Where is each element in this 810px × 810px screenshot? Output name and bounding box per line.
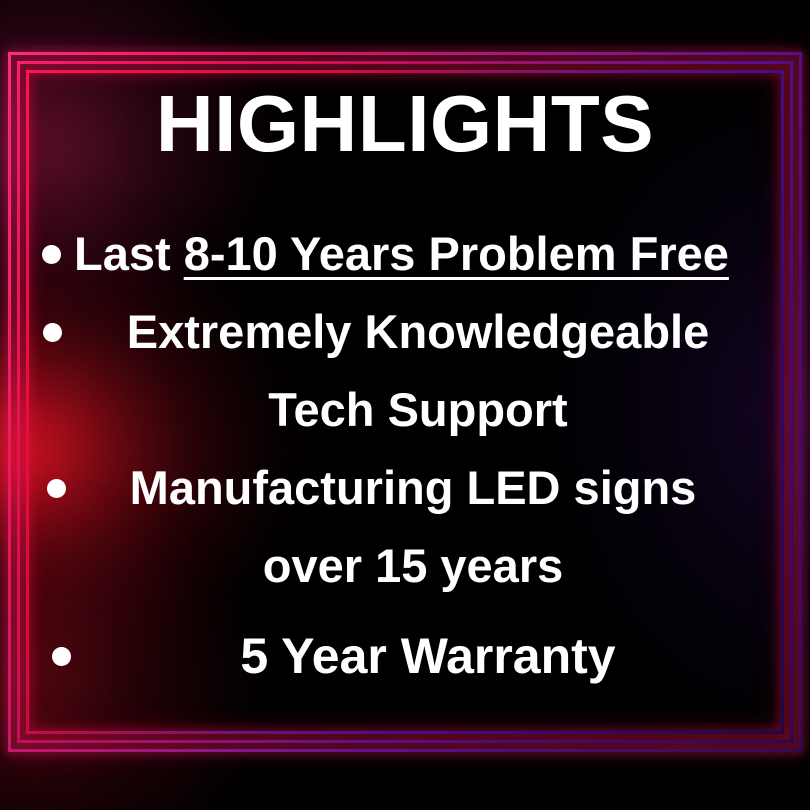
bullet-dot-icon (43, 323, 62, 342)
list-item-label-line2: Tech Support (268, 383, 567, 436)
highlights-list: Last 8-10 Years Problem Free Extremely K… (0, 215, 810, 695)
highlights-poster: HIGHLIGHTS Last 8-10 Years Problem Free … (0, 0, 810, 810)
list-item-label: Manufacturing LED signs (130, 461, 697, 514)
poster-content: HIGHLIGHTS Last 8-10 Years Problem Free … (0, 0, 810, 810)
list-item-label: 5 Year Warranty (240, 628, 615, 684)
list-item-label-line2: over 15 years (263, 539, 564, 592)
bullet-dot-icon (42, 245, 61, 264)
list-item: Manufacturing LED signs (0, 449, 810, 527)
list-item-prefix: Last (74, 227, 184, 280)
list-item: Last 8-10 Years Problem Free (0, 215, 810, 293)
bullet-dot-icon (52, 647, 71, 666)
list-item-label: Extremely Knowledgeable (127, 305, 709, 358)
list-item-continuation: Tech Support (0, 371, 810, 449)
bullet-dot-icon (47, 479, 66, 498)
list-item: 5 Year Warranty (0, 617, 810, 695)
list-item: Extremely Knowledgeable (0, 293, 810, 371)
page-title: HIGHLIGHTS (0, 84, 810, 164)
list-item-continuation: over 15 years (0, 527, 810, 605)
list-item-emphasis: 8-10 Years Problem Free (184, 227, 729, 280)
